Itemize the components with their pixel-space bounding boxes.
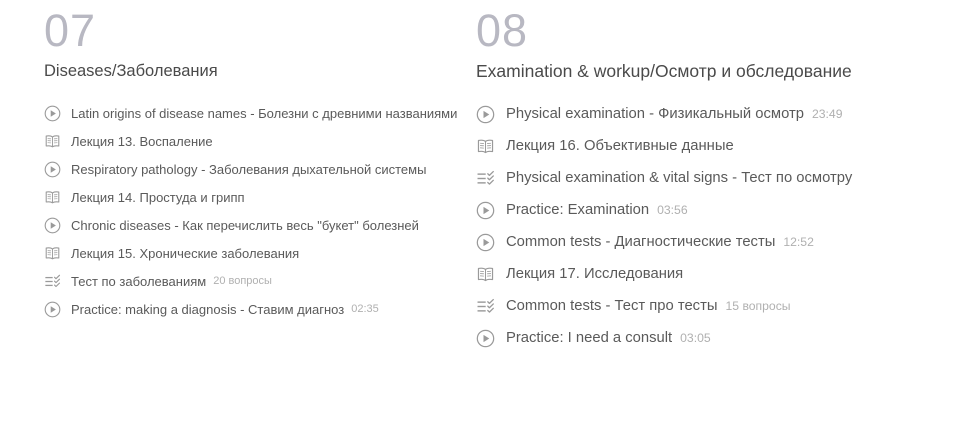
lesson-meta: 03:05: [680, 331, 711, 345]
book-icon[interactable]: [476, 265, 495, 284]
lesson-meta: 02:35: [351, 303, 379, 315]
lesson-label: Common tests - Диагностические тесты: [506, 232, 775, 252]
play-icon[interactable]: [476, 105, 495, 124]
lesson-item[interactable]: Common tests - Тест про тесты15 вопросы: [476, 290, 964, 322]
play-icon[interactable]: [476, 201, 495, 220]
lesson-item[interactable]: Physical examination & vital signs - Тес…: [476, 162, 964, 194]
lesson-item[interactable]: Тест по заболеваниям20 вопросы: [44, 267, 470, 295]
lesson-item[interactable]: Practice: Examination03:56: [476, 194, 964, 226]
book-icon[interactable]: [44, 245, 61, 262]
lesson-label: Лекция 15. Хронические заболевания: [71, 245, 299, 262]
book-icon[interactable]: [476, 137, 495, 156]
lesson-item[interactable]: Physical examination - Физикальный осмот…: [476, 98, 964, 130]
lesson-item[interactable]: Лекция 17. Исследования: [476, 258, 964, 290]
lesson-item[interactable]: Practice: I need a consult03:05: [476, 322, 964, 354]
lesson-meta: 12:52: [783, 235, 814, 249]
lesson-label: Practice: making a diagnosis - Ставим ди…: [71, 301, 344, 318]
lesson-list-07: Latin origins of disease names - Болезни…: [44, 99, 470, 323]
lesson-item[interactable]: Лекция 13. Воспаление: [44, 127, 470, 155]
lesson-meta: 20 вопросы: [213, 275, 272, 287]
lesson-meta: 15 вопросы: [726, 299, 791, 313]
play-icon[interactable]: [476, 329, 495, 348]
lesson-label: Лекция 14. Простуда и грипп: [71, 189, 245, 206]
lesson-item[interactable]: Лекция 14. Простуда и грипп: [44, 183, 470, 211]
lesson-label: Лекция 16. Объективные данные: [506, 136, 734, 156]
section-number: 08: [476, 6, 964, 56]
lesson-label: Common tests - Тест про тесты: [506, 296, 718, 316]
lesson-item[interactable]: Respiratory pathology - Заболевания дыха…: [44, 155, 470, 183]
section-title: Diseases/Заболевания: [44, 60, 470, 82]
lesson-meta: 03:56: [657, 203, 688, 217]
book-icon[interactable]: [44, 189, 61, 206]
lesson-list-08: Physical examination - Физикальный осмот…: [476, 98, 964, 354]
play-icon[interactable]: [44, 217, 61, 234]
section-08: 08 Examination & workup/Осмотр и обследо…: [470, 0, 964, 423]
lesson-label: Physical examination & vital signs - Тес…: [506, 168, 852, 188]
book-icon[interactable]: [44, 133, 61, 150]
quiz-icon[interactable]: [476, 297, 495, 316]
lesson-item[interactable]: Лекция 16. Объективные данные: [476, 130, 964, 162]
lesson-label: Chronic diseases - Как перечислить весь …: [71, 217, 419, 234]
lesson-label: Respiratory pathology - Заболевания дыха…: [71, 161, 426, 178]
lesson-label: Physical examination - Физикальный осмот…: [506, 104, 804, 124]
lesson-label: Practice: I need a consult: [506, 328, 672, 348]
lesson-item[interactable]: Chronic diseases - Как перечислить весь …: [44, 211, 470, 239]
quiz-icon[interactable]: [476, 169, 495, 188]
section-number: 07: [44, 6, 470, 56]
play-icon[interactable]: [476, 233, 495, 252]
lesson-item[interactable]: Practice: making a diagnosis - Ставим ди…: [44, 295, 470, 323]
curriculum-sections: 07 Diseases/Заболевания Latin origins of…: [0, 0, 964, 423]
lesson-label: Latin origins of disease names - Болезни…: [71, 105, 457, 122]
lesson-item[interactable]: Common tests - Диагностические тесты12:5…: [476, 226, 964, 258]
lesson-item[interactable]: Latin origins of disease names - Болезни…: [44, 99, 470, 127]
section-title: Examination & workup/Осмотр и обследован…: [476, 60, 964, 83]
play-icon[interactable]: [44, 105, 61, 122]
quiz-icon[interactable]: [44, 273, 61, 290]
play-icon[interactable]: [44, 161, 61, 178]
lesson-meta: 23:49: [812, 107, 843, 121]
section-07: 07 Diseases/Заболевания Latin origins of…: [0, 0, 470, 423]
lesson-label: Practice: Examination: [506, 200, 649, 220]
lesson-label: Лекция 13. Воспаление: [71, 133, 213, 150]
lesson-item[interactable]: Лекция 15. Хронические заболевания: [44, 239, 470, 267]
lesson-label: Тест по заболеваниям: [71, 273, 206, 290]
lesson-label: Лекция 17. Исследования: [506, 264, 683, 284]
play-icon[interactable]: [44, 301, 61, 318]
